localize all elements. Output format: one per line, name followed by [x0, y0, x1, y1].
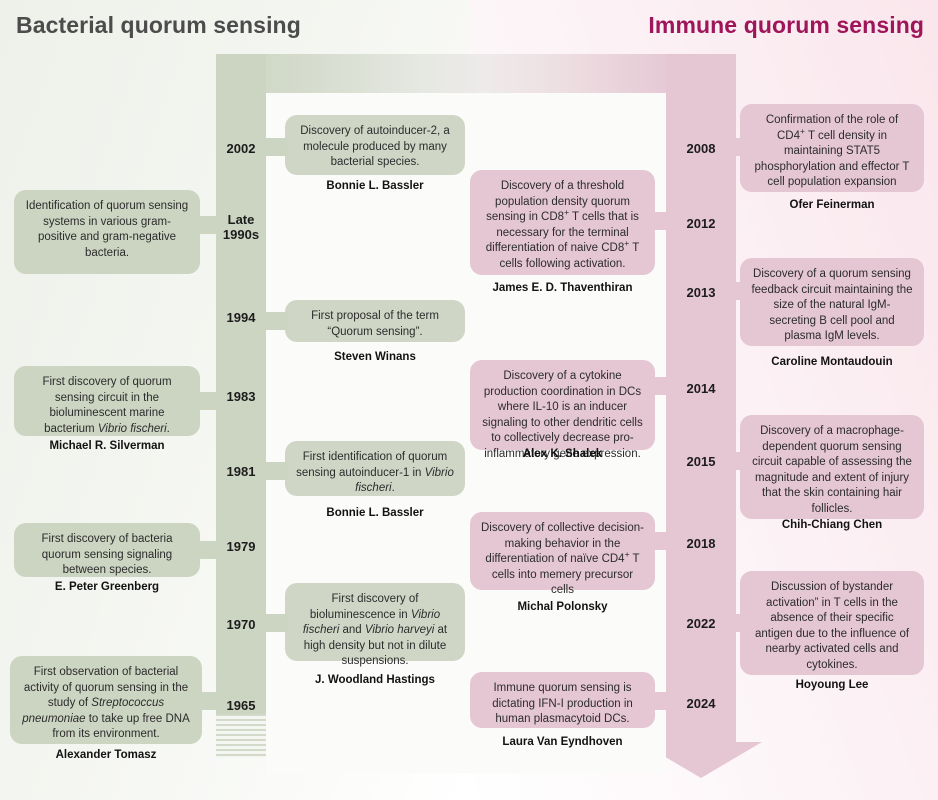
card-late-1990s[interactable]: Identification of quorum sensing systems…	[14, 190, 200, 274]
card-1965[interactable]: First observation of bacterial activity …	[10, 656, 202, 744]
card-text: Identification of quorum sensing systems…	[26, 200, 188, 259]
species-name: Vibrio fischeri	[355, 467, 454, 495]
author-1965: Alexander Tomasz	[10, 749, 202, 761]
author-2022: Hoyoung Lee	[740, 679, 924, 691]
year-label-1965: 1965	[216, 698, 266, 713]
author-1981: Bonnie L. Bassler	[285, 507, 465, 519]
connector-2002	[262, 138, 288, 156]
year-label-2015: 2015	[666, 454, 736, 469]
timeline-bar-immune	[666, 54, 736, 744]
timeline-diagram: Bacterial quorum sensing Immune quorum s…	[0, 0, 938, 800]
card-2014[interactable]: Discovery of a cytokine production coord…	[470, 360, 655, 450]
timeline-bar-bacterial-fade	[216, 714, 266, 758]
connector-2013	[730, 282, 746, 300]
superscript-plus: +	[800, 126, 805, 136]
superscript-plus: +	[625, 549, 630, 559]
author-1983: Michael R. Silverman	[14, 440, 200, 452]
year-label-late-1990s-line2: 1990s	[216, 227, 266, 242]
card-2018[interactable]: Discovery of collective decision-making …	[470, 512, 655, 590]
card-2012[interactable]: Discovery of a threshold population dens…	[470, 170, 655, 275]
card-1979[interactable]: First discovery of bacteria quorum sensi…	[14, 523, 200, 577]
card-text: Discovery of a quorum sensing feedback c…	[751, 268, 912, 342]
card-text: First proposal of the term “Quorum sensi…	[311, 310, 439, 338]
card-text: First discovery of bacteria quorum sensi…	[41, 533, 172, 576]
author-2012: James E. D. Thaventhiran	[470, 282, 655, 294]
year-label-2013: 2013	[666, 285, 736, 300]
card-text: Discovery of a cytokine production coord…	[482, 370, 642, 460]
year-label-2014: 2014	[666, 381, 736, 396]
author-2018: Michal Polonsky	[470, 601, 655, 613]
year-label-1994: 1994	[216, 310, 266, 325]
card-2022[interactable]: Discussion of bystander activation” in T…	[740, 571, 924, 675]
connector-late-1990s	[196, 216, 220, 234]
year-label-2022: 2022	[666, 616, 736, 631]
connector-1970	[262, 614, 288, 632]
page-title-right: Immune quorum sensing	[648, 12, 924, 39]
card-2013[interactable]: Discovery of a quorum sensing feedback c…	[740, 258, 924, 346]
year-label-2024: 2024	[666, 696, 736, 711]
connector-2014	[652, 377, 674, 395]
connector-1965	[198, 692, 220, 710]
author-1994: Steven Winans	[285, 351, 465, 363]
card-2008[interactable]: Confirmation of the role of CD4+ T cell …	[740, 104, 924, 192]
author-1979: E. Peter Greenberg	[14, 581, 200, 593]
author-1970: J. Woodland Hastings	[285, 674, 465, 686]
connector-2015	[730, 452, 746, 470]
superscript-plus: +	[624, 238, 629, 248]
superscript-plus: +	[564, 207, 569, 217]
author-2002: Bonnie L. Bassler	[285, 180, 465, 192]
card-text: Immune quorum sensing is dictating IFN-I…	[492, 682, 633, 725]
species-name: Vibrio harveyi	[365, 624, 434, 636]
connector-1983	[196, 392, 220, 410]
card-2015[interactable]: Discovery of a macrophage-dependent quor…	[740, 415, 924, 519]
card-1983[interactable]: First discovery of quorum sensing circui…	[14, 366, 200, 436]
card-2024[interactable]: Immune quorum sensing is dictating IFN-I…	[470, 672, 655, 728]
connector-2018	[652, 532, 674, 550]
year-label-2002: 2002	[216, 141, 266, 156]
species-name: Streptococcus pneumoniae	[22, 697, 164, 725]
year-label-1983: 1983	[216, 389, 266, 404]
card-text: Discovery of a macrophage-dependent quor…	[752, 425, 912, 515]
author-2014: Alex K. Shalek	[470, 448, 655, 460]
connector-2012	[652, 212, 674, 230]
species-name: Vibrio fischeri	[98, 423, 167, 435]
author-2013: Caroline Montaudouin	[740, 356, 924, 368]
connector-1979	[196, 541, 220, 559]
card-1994[interactable]: First proposal of the term “Quorum sensi…	[285, 300, 465, 342]
page-title-left: Bacterial quorum sensing	[16, 12, 301, 39]
center-panel-top-notch	[266, 93, 666, 107]
card-2002[interactable]: Discovery of autoinducer-2, a molecule p…	[285, 115, 465, 175]
card-text: Discussion of bystander activation” in T…	[755, 581, 909, 671]
connector-1981	[262, 462, 288, 480]
year-label-late-1990s-line1: Late	[216, 212, 266, 227]
author-2008: Ofer Feinerman	[740, 199, 924, 211]
connector-1994	[262, 312, 288, 330]
year-label-1981: 1981	[216, 464, 266, 479]
year-label-1970: 1970	[216, 617, 266, 632]
card-1981[interactable]: First identification of quorum sensing a…	[285, 441, 465, 496]
connector-2008	[730, 138, 746, 156]
author-2024: Laura Van Eyndhoven	[470, 736, 655, 748]
connector-2024	[652, 692, 674, 710]
author-2015: Chih-Chiang Chen	[740, 519, 924, 531]
year-label-2008: 2008	[666, 141, 736, 156]
connector-2022	[730, 614, 746, 632]
year-label-1979: 1979	[216, 539, 266, 554]
year-label-2018: 2018	[666, 536, 736, 551]
card-1970[interactable]: First discovery of bioluminescence in Vi…	[285, 583, 465, 661]
card-text: Discovery of autoinducer-2, a molecule p…	[300, 125, 450, 168]
year-label-2012: 2012	[666, 216, 736, 231]
